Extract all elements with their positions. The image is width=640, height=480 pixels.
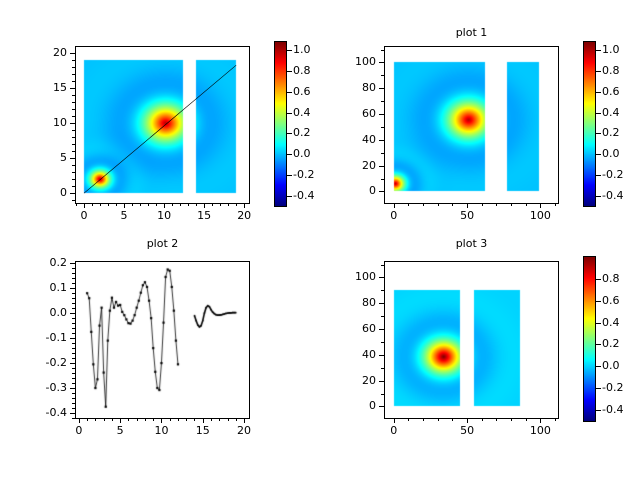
top-left-image-xtick-minor bbox=[228, 203, 229, 206]
top-left-image-ytick-minor bbox=[72, 200, 75, 201]
bottom-left-line-xtick-minor bbox=[186, 418, 187, 421]
top-left-image-xtick-minor bbox=[140, 203, 141, 206]
top-left-image-ytick-minor bbox=[72, 81, 75, 82]
top-left-image-heatmap bbox=[76, 47, 249, 203]
top-left-image-colorbar-tick bbox=[287, 92, 292, 93]
top-left-image-xtick-label: 20 bbox=[224, 210, 264, 221]
top-right-image-colorbar-tick bbox=[596, 92, 601, 93]
bottom-left-line-xtick-label: 20 bbox=[224, 425, 264, 436]
top-right-image-colorbar-tick bbox=[596, 113, 601, 114]
top-left-image-ytick-minor bbox=[72, 116, 75, 117]
bottom-right-image-axes[interactable] bbox=[384, 261, 559, 419]
bottom-right-image-xtick-major bbox=[467, 418, 468, 423]
top-right-image-ytick-label: 60 bbox=[332, 108, 376, 119]
top-right-image-colorbar-label: 0.4 bbox=[602, 107, 640, 118]
bottom-left-line-ytick-minor bbox=[72, 278, 75, 279]
top-left-image-colorbar-tick bbox=[287, 50, 292, 51]
bottom-right-image-ytick-label: 100 bbox=[332, 271, 376, 282]
bottom-left-line-xtick-minor bbox=[219, 418, 220, 421]
top-right-image-xtick-major bbox=[540, 203, 541, 208]
top-right-image-colorbar-label: 0.2 bbox=[602, 127, 640, 138]
bottom-right-image-xtick-minor bbox=[423, 418, 424, 421]
top-right-image-colorbar-tick bbox=[596, 133, 601, 134]
top-left-image-ytick-major bbox=[70, 123, 75, 124]
bottom-left-line-xtick-minor bbox=[236, 418, 237, 421]
bottom-right-image-colorbar-label: 0.6 bbox=[602, 295, 640, 306]
bottom-right-image-xtick-minor bbox=[511, 418, 512, 421]
top-left-image-colorbar-tick bbox=[287, 71, 292, 72]
bottom-left-line-ytick-minor bbox=[72, 293, 75, 294]
bottom-right-image-xtick-label: 50 bbox=[447, 425, 487, 436]
top-right-image-colorbar[interactable] bbox=[583, 41, 596, 207]
bottom-right-image-ytick-minor bbox=[381, 368, 384, 369]
top-right-image-colorbar-tick bbox=[596, 154, 601, 155]
bottom-right-image-colorbar[interactable] bbox=[583, 256, 596, 422]
bottom-left-line-ytick-minor bbox=[72, 328, 75, 329]
top-right-image-ytick-major bbox=[379, 191, 384, 192]
bottom-right-image-colorbar-tick bbox=[596, 301, 601, 302]
bottom-right-image-ytick-major bbox=[379, 277, 384, 278]
bottom-left-line-xtick-minor bbox=[228, 418, 229, 421]
top-left-image-xtick-major bbox=[124, 203, 125, 208]
top-left-image-xtick-minor bbox=[212, 203, 213, 206]
bottom-left-line-ytick-minor bbox=[72, 268, 75, 269]
bottom-left-line-xtick-minor bbox=[112, 418, 113, 421]
top-right-image-xtick-minor bbox=[496, 203, 497, 206]
top-right-image-ytick-major bbox=[379, 114, 384, 115]
top-left-image-colorbar-label: 0.0 bbox=[293, 148, 333, 159]
bottom-left-line-ytick-minor bbox=[72, 403, 75, 404]
bottom-left-line-line-canvas bbox=[76, 262, 249, 418]
bottom-right-image-xtick-major bbox=[394, 418, 395, 423]
bottom-left-line-ytick-minor bbox=[72, 358, 75, 359]
bottom-right-image-ytick-label: 0 bbox=[332, 400, 376, 411]
bottom-left-line-ytick-minor bbox=[72, 378, 75, 379]
bottom-right-image-ytick-minor bbox=[381, 290, 384, 291]
bottom-right-image-xtick-minor bbox=[438, 418, 439, 421]
top-left-image-ytick-minor bbox=[72, 165, 75, 166]
top-right-image-ytick-major bbox=[379, 62, 384, 63]
top-right-image-colorbar-tick bbox=[596, 50, 601, 51]
top-left-image-ytick-minor bbox=[72, 74, 75, 75]
top-left-image-xtick-label: 5 bbox=[104, 210, 144, 221]
bottom-right-image-xtick-label: 100 bbox=[520, 425, 560, 436]
top-left-image-xtick-major bbox=[204, 203, 205, 208]
bottom-right-image-colorbar-label: 0.4 bbox=[602, 317, 640, 328]
top-right-image-ytick-minor bbox=[381, 153, 384, 154]
bottom-left-line-xtick-minor bbox=[145, 418, 146, 421]
bottom-left-line-ytick-minor bbox=[72, 368, 75, 369]
top-right-image-ytick-label: 40 bbox=[332, 134, 376, 145]
top-left-image-xtick-minor bbox=[100, 203, 101, 206]
bottom-left-line-ytick-minor bbox=[72, 303, 75, 304]
top-right-image-colorbar-label: -0.4 bbox=[602, 190, 640, 201]
top-left-image-colorbar-tick bbox=[287, 175, 292, 176]
bottom-right-image-ytick-label: 20 bbox=[332, 375, 376, 386]
top-right-image-xtick-label: 100 bbox=[520, 210, 560, 221]
top-right-image-xtick-major bbox=[394, 203, 395, 208]
top-left-image-ytick-minor bbox=[72, 172, 75, 173]
top-right-image-xtick-minor bbox=[438, 203, 439, 206]
bottom-right-image-xtick-minor bbox=[526, 418, 527, 421]
bottom-right-image-xtick-minor bbox=[482, 418, 483, 421]
bottom-right-image-colorbar-tick bbox=[596, 279, 601, 280]
bottom-right-image-ytick-label: 80 bbox=[332, 297, 376, 308]
top-left-image-colorbar[interactable] bbox=[274, 41, 287, 207]
bottom-left-line-ytick-minor bbox=[72, 343, 75, 344]
bottom-right-image-ytick-major bbox=[379, 303, 384, 304]
top-right-image-colorbar-label: -0.2 bbox=[602, 169, 640, 180]
top-right-image-ytick-label: 80 bbox=[332, 82, 376, 93]
top-right-image-colorbar-gradient bbox=[584, 42, 595, 206]
bottom-right-image-ytick-minor bbox=[381, 342, 384, 343]
bottom-right-image-ytick-label: 40 bbox=[332, 349, 376, 360]
top-left-image-xtick-label: 10 bbox=[144, 210, 184, 221]
bottom-left-line-ytick-minor bbox=[72, 393, 75, 394]
top-left-image-ytick-minor bbox=[72, 137, 75, 138]
top-left-image-xtick-minor bbox=[132, 203, 133, 206]
bottom-left-line-ytick-major bbox=[70, 313, 75, 314]
top-left-image-ytick-label: 15 bbox=[23, 82, 67, 93]
bottom-right-image-title: plot 3 bbox=[384, 238, 559, 250]
top-left-image-ytick-major bbox=[70, 88, 75, 89]
top-left-image-colorbar-tick bbox=[287, 154, 292, 155]
bottom-left-line-ytick-major bbox=[70, 363, 75, 364]
bottom-left-line-axes[interactable] bbox=[75, 261, 250, 419]
top-right-image-ytick-major bbox=[379, 166, 384, 167]
top-left-image-xtick-minor bbox=[236, 203, 237, 206]
top-right-image-xtick-major bbox=[467, 203, 468, 208]
top-left-image-ytick-major bbox=[70, 158, 75, 159]
top-left-image-colorbar-tick bbox=[287, 113, 292, 114]
top-left-image-ytick-minor bbox=[72, 95, 75, 96]
top-right-image-xtick-minor bbox=[555, 203, 556, 206]
bottom-left-line-ytick-label: -0.1 bbox=[23, 332, 67, 343]
top-left-image-ytick-minor bbox=[72, 60, 75, 61]
top-right-image-colorbar-label: 1.0 bbox=[602, 44, 640, 55]
bottom-right-image-colorbar-label: 0.2 bbox=[602, 338, 640, 349]
bottom-right-image-xtick-major bbox=[540, 418, 541, 423]
top-right-image-colorbar-tick bbox=[596, 71, 601, 72]
bottom-left-line-ytick-label: -0.3 bbox=[23, 382, 67, 393]
bottom-right-image-colorbar-tick bbox=[596, 344, 601, 345]
top-left-image-ytick-major bbox=[70, 53, 75, 54]
top-right-image-title: plot 1 bbox=[384, 27, 559, 39]
top-left-image-xtick-minor bbox=[148, 203, 149, 206]
top-left-image-axes[interactable] bbox=[75, 46, 250, 204]
top-left-image-ytick-minor bbox=[72, 151, 75, 152]
bottom-right-image-xtick-minor bbox=[496, 418, 497, 421]
bottom-right-image-xtick-minor bbox=[452, 418, 453, 421]
top-left-image-xtick-minor bbox=[92, 203, 93, 206]
top-left-image-xtick-major bbox=[244, 203, 245, 208]
top-left-image-colorbar-tick bbox=[287, 133, 292, 134]
bottom-right-image-ytick-major bbox=[379, 355, 384, 356]
bottom-left-line-xtick-major bbox=[79, 418, 80, 423]
top-left-image-xtick-minor bbox=[220, 203, 221, 206]
bottom-right-image-colorbar-label: -0.2 bbox=[602, 382, 640, 393]
top-left-image-xtick-minor bbox=[180, 203, 181, 206]
bottom-right-image-colorbar-tick bbox=[596, 388, 601, 389]
top-right-image-ytick-minor bbox=[381, 127, 384, 128]
bottom-left-line-ytick-minor bbox=[72, 418, 75, 419]
bottom-left-line-xtick-major bbox=[244, 418, 245, 423]
top-right-image-colorbar-label: 0.0 bbox=[602, 148, 640, 159]
top-left-image-ytick-label: 5 bbox=[23, 152, 67, 163]
top-left-image-xtick-label: 15 bbox=[184, 210, 224, 221]
top-right-image-xtick-minor bbox=[511, 203, 512, 206]
bottom-left-line-xtick-label: 0 bbox=[59, 425, 99, 436]
top-left-image-ytick-label: 20 bbox=[23, 47, 67, 58]
top-right-image-ytick-minor bbox=[381, 101, 384, 102]
bottom-left-line-xtick-label: 5 bbox=[100, 425, 140, 436]
bottom-right-image-colorbar-label: 0.8 bbox=[602, 273, 640, 284]
top-right-image-ytick-minor bbox=[381, 50, 384, 51]
bottom-right-image-xtick-label: 0 bbox=[374, 425, 414, 436]
top-left-image-ytick-label: 10 bbox=[23, 117, 67, 128]
bottom-left-line-ytick-minor bbox=[72, 408, 75, 409]
top-right-image-colorbar-label: 0.6 bbox=[602, 86, 640, 97]
top-right-image-xtick-minor bbox=[452, 203, 453, 206]
top-left-image-xtick-label: 0 bbox=[64, 210, 104, 221]
top-right-image-xtick-minor bbox=[526, 203, 527, 206]
top-left-image-ytick-minor bbox=[72, 102, 75, 103]
top-left-image-ytick-minor bbox=[72, 67, 75, 68]
top-left-image-colorbar-label: 1.0 bbox=[293, 44, 333, 55]
bottom-right-image-ytick-minor bbox=[381, 394, 384, 395]
top-left-image-xtick-minor bbox=[156, 203, 157, 206]
bottom-left-line-xtick-minor bbox=[178, 418, 179, 421]
bottom-left-line-ytick-minor bbox=[72, 298, 75, 299]
top-left-image-xtick-minor bbox=[188, 203, 189, 206]
bottom-left-line-ytick-minor bbox=[72, 353, 75, 354]
top-right-image-colorbar-label: 0.8 bbox=[602, 65, 640, 76]
bottom-left-line-xtick-minor bbox=[128, 418, 129, 421]
bottom-left-line-xtick-major bbox=[161, 418, 162, 423]
bottom-left-line-xtick-minor bbox=[137, 418, 138, 421]
top-right-image-xtick-label: 50 bbox=[447, 210, 487, 221]
bottom-right-image-colorbar-label: 0.0 bbox=[602, 360, 640, 371]
bottom-right-image-colorbar-gradient bbox=[584, 257, 595, 421]
bottom-left-line-xtick-minor bbox=[104, 418, 105, 421]
top-left-image-colorbar-label: 0.2 bbox=[293, 127, 333, 138]
top-right-image-xtick-minor bbox=[408, 203, 409, 206]
bottom-left-line-ytick-minor bbox=[72, 308, 75, 309]
top-right-image-ytick-label: 0 bbox=[332, 185, 376, 196]
bottom-left-line-ytick-label: 0.0 bbox=[23, 307, 67, 318]
top-left-image-xtick-minor bbox=[108, 203, 109, 206]
top-right-image-xtick-label: 0 bbox=[374, 210, 414, 221]
bottom-right-image-ytick-major bbox=[379, 329, 384, 330]
bottom-left-line-ytick-minor bbox=[72, 373, 75, 374]
bottom-right-image-ytick-label: 60 bbox=[332, 323, 376, 334]
top-right-image-xtick-minor bbox=[423, 203, 424, 206]
bottom-left-line-ytick-minor bbox=[72, 273, 75, 274]
bottom-right-image-heatmap bbox=[385, 262, 558, 418]
bottom-left-line-ytick-label: -0.2 bbox=[23, 357, 67, 368]
top-right-image-ytick-label: 100 bbox=[332, 56, 376, 67]
top-left-image-ytick-minor bbox=[72, 179, 75, 180]
top-left-image-xtick-major bbox=[164, 203, 165, 208]
bottom-left-line-ytick-major bbox=[70, 413, 75, 414]
bottom-left-line-ytick-minor bbox=[72, 283, 75, 284]
top-right-image-colorbar-tick bbox=[596, 175, 601, 176]
figure-canvas: 05101520051015201.00.80.60.40.20.0-0.2-0… bbox=[0, 0, 640, 480]
top-left-image-xtick-major bbox=[84, 203, 85, 208]
bottom-left-line-xtick-major bbox=[120, 418, 121, 423]
top-left-image-ytick-major bbox=[70, 193, 75, 194]
top-right-image-xtick-minor bbox=[482, 203, 483, 206]
bottom-left-line-ytick-major bbox=[70, 263, 75, 264]
top-left-image-ytick-minor bbox=[72, 144, 75, 145]
bottom-left-line-ytick-label: 0.1 bbox=[23, 282, 67, 293]
top-left-image-ytick-label: 0 bbox=[23, 187, 67, 198]
bottom-left-line-ytick-minor bbox=[72, 323, 75, 324]
top-right-image-ytick-label: 20 bbox=[332, 160, 376, 171]
top-left-image-ytick-minor bbox=[72, 130, 75, 131]
top-left-image-colorbar-gradient bbox=[275, 42, 286, 206]
top-right-image-heatmap bbox=[385, 47, 558, 203]
bottom-left-line-ytick-major bbox=[70, 288, 75, 289]
top-right-image-colorbar-tick bbox=[596, 196, 601, 197]
top-left-image-colorbar-label: 0.6 bbox=[293, 86, 333, 97]
bottom-left-line-xtick-label: 15 bbox=[183, 425, 223, 436]
bottom-left-line-title: plot 2 bbox=[75, 238, 250, 250]
top-left-image-colorbar-label: 0.4 bbox=[293, 107, 333, 118]
top-left-image-xtick-minor bbox=[172, 203, 173, 206]
bottom-left-line-ytick-minor bbox=[72, 348, 75, 349]
top-right-image-ytick-minor bbox=[381, 75, 384, 76]
top-right-image-ytick-minor bbox=[381, 179, 384, 180]
bottom-right-image-xtick-minor bbox=[408, 418, 409, 421]
top-left-image-ytick-minor bbox=[72, 109, 75, 110]
top-left-image-colorbar-label: 0.8 bbox=[293, 65, 333, 76]
bottom-right-image-ytick-minor bbox=[381, 265, 384, 266]
bottom-right-image-ytick-major bbox=[379, 381, 384, 382]
bottom-left-line-ytick-label: 0.2 bbox=[23, 257, 67, 268]
bottom-left-line-ytick-minor bbox=[72, 318, 75, 319]
bottom-left-line-ytick-minor bbox=[72, 398, 75, 399]
top-left-image-xtick-minor bbox=[196, 203, 197, 206]
bottom-left-line-xtick-minor bbox=[87, 418, 88, 421]
top-left-image-colorbar-label: -0.4 bbox=[293, 190, 333, 201]
bottom-left-line-xtick-minor bbox=[194, 418, 195, 421]
top-left-image-ytick-minor bbox=[72, 186, 75, 187]
bottom-left-line-xtick-minor bbox=[95, 418, 96, 421]
bottom-left-line-xtick-minor bbox=[153, 418, 154, 421]
bottom-right-image-colorbar-tick bbox=[596, 366, 601, 367]
bottom-right-image-ytick-minor bbox=[381, 316, 384, 317]
bottom-right-image-xtick-minor bbox=[555, 418, 556, 421]
bottom-left-line-xtick-minor bbox=[211, 418, 212, 421]
bottom-left-line-ytick-major bbox=[70, 388, 75, 389]
bottom-left-line-ytick-major bbox=[70, 338, 75, 339]
bottom-left-line-xtick-minor bbox=[170, 418, 171, 421]
bottom-right-image-colorbar-tick bbox=[596, 323, 601, 324]
top-right-image-axes[interactable] bbox=[384, 46, 559, 204]
top-right-image-ytick-major bbox=[379, 88, 384, 89]
bottom-left-line-ytick-minor bbox=[72, 383, 75, 384]
bottom-right-image-ytick-major bbox=[379, 406, 384, 407]
bottom-left-line-xtick-major bbox=[203, 418, 204, 423]
bottom-left-line-ytick-minor bbox=[72, 333, 75, 334]
bottom-left-line-ytick-label: -0.4 bbox=[23, 407, 67, 418]
top-left-image-colorbar-label: -0.2 bbox=[293, 169, 333, 180]
top-left-image-xtick-minor bbox=[76, 203, 77, 206]
bottom-left-line-xtick-label: 10 bbox=[141, 425, 181, 436]
bottom-right-image-colorbar-tick bbox=[596, 410, 601, 411]
top-left-image-xtick-minor bbox=[116, 203, 117, 206]
bottom-right-image-colorbar-label: -0.4 bbox=[602, 404, 640, 415]
top-right-image-ytick-major bbox=[379, 140, 384, 141]
top-left-image-colorbar-tick bbox=[287, 196, 292, 197]
